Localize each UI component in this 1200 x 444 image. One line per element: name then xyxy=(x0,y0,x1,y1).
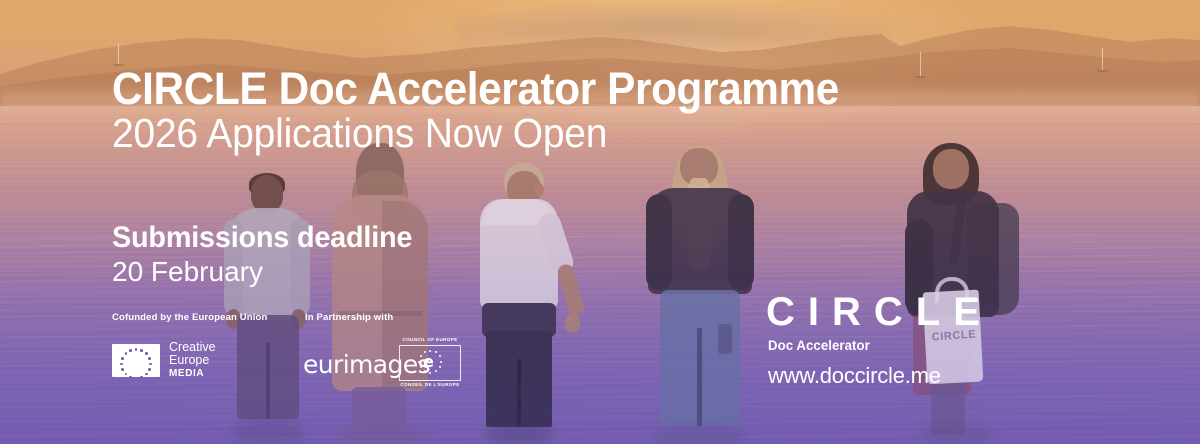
coe-stars-emblem-icon: e xyxy=(416,349,444,377)
deadline-heading: Submissions deadline xyxy=(112,223,412,253)
coe-top-label: COUNCIL OF EUROPE xyxy=(399,338,461,343)
page-title: CIRCLE Doc Accelerator Programme xyxy=(112,66,839,111)
eu-flag-icon xyxy=(112,344,160,377)
deadline-date: 20 February xyxy=(112,258,263,286)
coe-emblem-box: e xyxy=(399,345,461,381)
creative-europe-media-logo: Creative Europe MEDIA xyxy=(112,341,216,380)
ce-line-1: Creative xyxy=(169,341,216,354)
circle-wordmark: CIRCLE xyxy=(766,292,993,332)
text-overlay: CIRCLE Doc Accelerator Programme 2026 Ap… xyxy=(0,0,1200,444)
coe-bottom-label: CONSEIL DE L'EUROPE xyxy=(399,383,461,388)
circle-tagline: Doc Accelerator xyxy=(768,338,870,352)
page-subtitle: 2026 Applications Now Open xyxy=(112,113,607,154)
partnership-label: In Partnership with xyxy=(305,313,393,323)
cofunded-label: Cofunded by the European Union xyxy=(112,313,267,323)
ce-line-3: MEDIA xyxy=(169,368,216,381)
website-url[interactable]: www.doccircle.me xyxy=(768,365,941,387)
ce-line-2: Europe xyxy=(169,354,216,367)
creative-europe-wordmark: Creative Europe MEDIA xyxy=(169,341,216,380)
coe-emblem-letter: e xyxy=(423,354,434,370)
council-of-europe-logo: COUNCIL OF EUROPE e xyxy=(399,338,461,387)
circle-doc-accelerator-banner: CIRCLE CIRCLE Doc Accelerator Programme … xyxy=(0,0,1200,444)
